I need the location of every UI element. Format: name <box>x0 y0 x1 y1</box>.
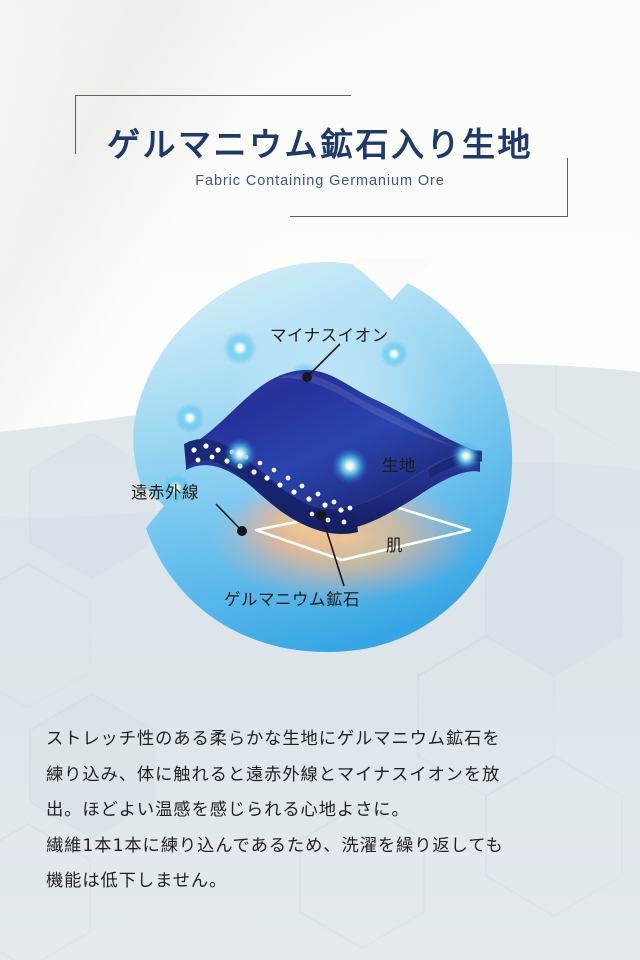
label-minus-ion: マイナスイオン <box>270 322 389 346</box>
label-skin: 肌 <box>386 532 403 556</box>
description-line: 繊維1本1本に練り込んであるため、洗濯を繰り返しても <box>46 829 606 865</box>
description-line: 出。ほどよい温感を感じられる心地よさに。 <box>46 793 606 829</box>
label-fabric: 生地 <box>382 452 416 476</box>
description-text: ストレッチ性のある柔らかな生地にゲルマニウム鉱石を 練り込み、体に触れると遠赤外… <box>46 722 606 900</box>
page-title: ゲルマニウム鉱石入り生地 <box>0 118 640 166</box>
description-line: ストレッチ性のある柔らかな生地にゲルマニウム鉱石を <box>46 722 606 758</box>
header: ゲルマニウム鉱石入り生地 Fabric Containing Germanium… <box>0 0 640 240</box>
product-feature-panel: ゲルマニウム鉱石入り生地 Fabric Containing Germanium… <box>0 0 640 960</box>
label-far-infrared: 遠赤外線 <box>131 479 199 503</box>
page-subtitle: Fabric Containing Germanium Ore <box>0 173 640 189</box>
description-line: 機能は低下しません。 <box>46 864 606 900</box>
label-germanium-ore: ゲルマニウム鉱石 <box>224 586 360 610</box>
description-line: 練り込み、体に触れると遠赤外線とマイナスイオンを放 <box>46 758 606 794</box>
